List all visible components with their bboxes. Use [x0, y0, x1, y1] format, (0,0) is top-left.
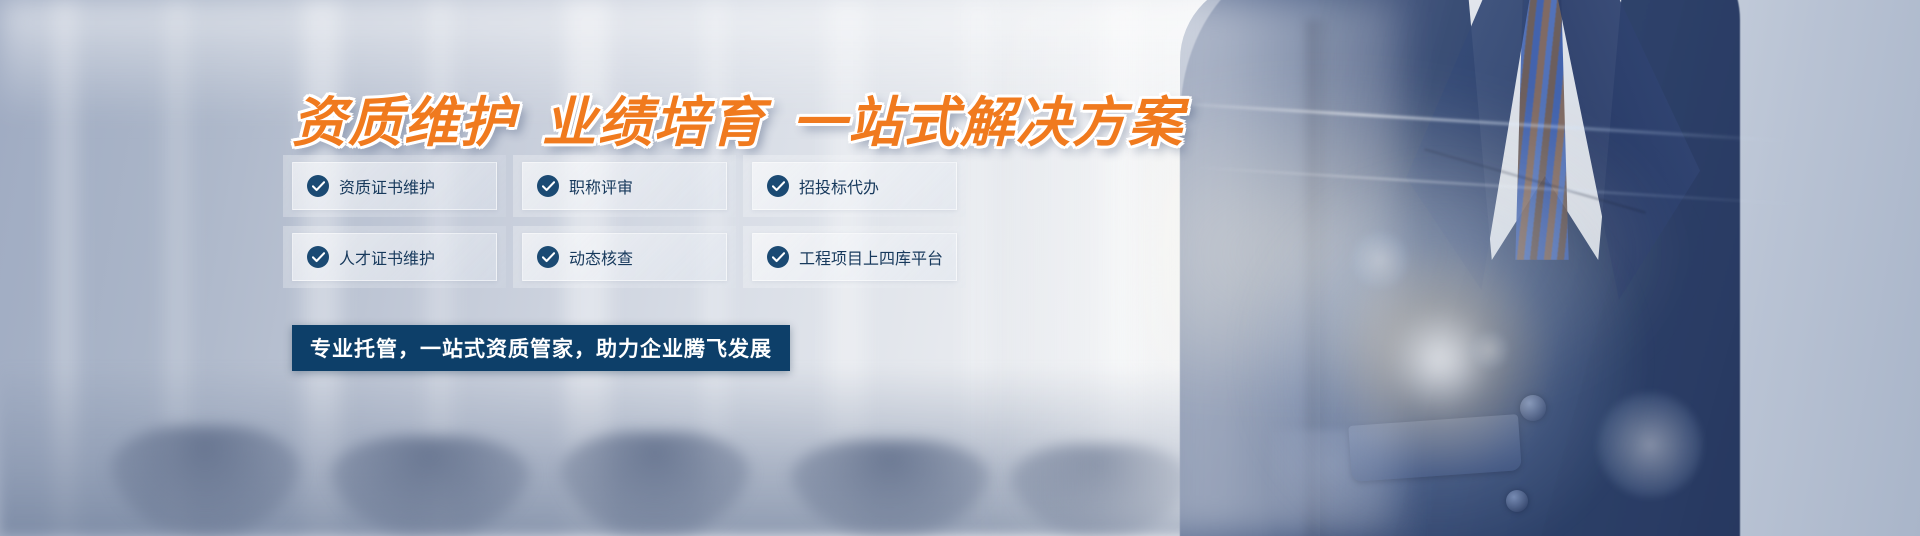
promo-banner: 资质维护业绩培育一站式解决方案 资质证书维护 职称评审 招投标代办 — [0, 0, 1920, 536]
tagline-text: 专业托管，一站式资质管家，助力企业腾飞发展 — [310, 333, 772, 363]
headline-segment-1: 资质维护 — [292, 91, 516, 154]
feature-label: 人才证书维护 — [339, 245, 435, 269]
banner-content: 资质维护业绩培育一站式解决方案 资质证书维护 职称评审 招投标代办 — [0, 0, 1100, 536]
feature-label: 招投标代办 — [799, 174, 879, 198]
feature-item-four-database-platform[interactable]: 工程项目上四库平台 — [752, 233, 957, 281]
tagline-bar: 专业托管，一站式资质管家，助力企业腾飞发展 — [292, 325, 790, 371]
headline-segment-3: 一站式解决方案 — [792, 91, 1184, 154]
headline-segment-2: 业绩培育 — [542, 91, 766, 154]
check-circle-icon — [537, 175, 559, 197]
jacket-button — [1506, 490, 1528, 512]
feature-label: 动态核查 — [569, 245, 633, 269]
check-circle-icon — [307, 246, 329, 268]
jacket-button — [1520, 395, 1546, 421]
feature-item-bidding-agency[interactable]: 招投标代办 — [752, 162, 957, 210]
feature-list: 资质证书维护 职称评审 招投标代办 人才证书维护 — [292, 162, 957, 281]
feature-label: 工程项目上四库平台 — [799, 245, 943, 269]
banner-headline: 资质维护业绩培育一站式解决方案 — [292, 78, 1184, 157]
jacket-pocket-flap — [1348, 414, 1521, 482]
check-circle-icon — [537, 246, 559, 268]
feature-item-qualification-certificate-maintenance[interactable]: 资质证书维护 — [292, 162, 497, 210]
feature-item-dynamic-verification[interactable]: 动态核查 — [522, 233, 727, 281]
feature-label: 职称评审 — [569, 174, 633, 198]
check-circle-icon — [307, 175, 329, 197]
feature-item-title-review[interactable]: 职称评审 — [522, 162, 727, 210]
businessman-photo — [1120, 0, 1920, 536]
check-circle-icon — [767, 175, 789, 197]
feature-label: 资质证书维护 — [339, 174, 435, 198]
feature-item-talent-certificate-maintenance[interactable]: 人才证书维护 — [292, 233, 497, 281]
check-circle-icon — [767, 246, 789, 268]
